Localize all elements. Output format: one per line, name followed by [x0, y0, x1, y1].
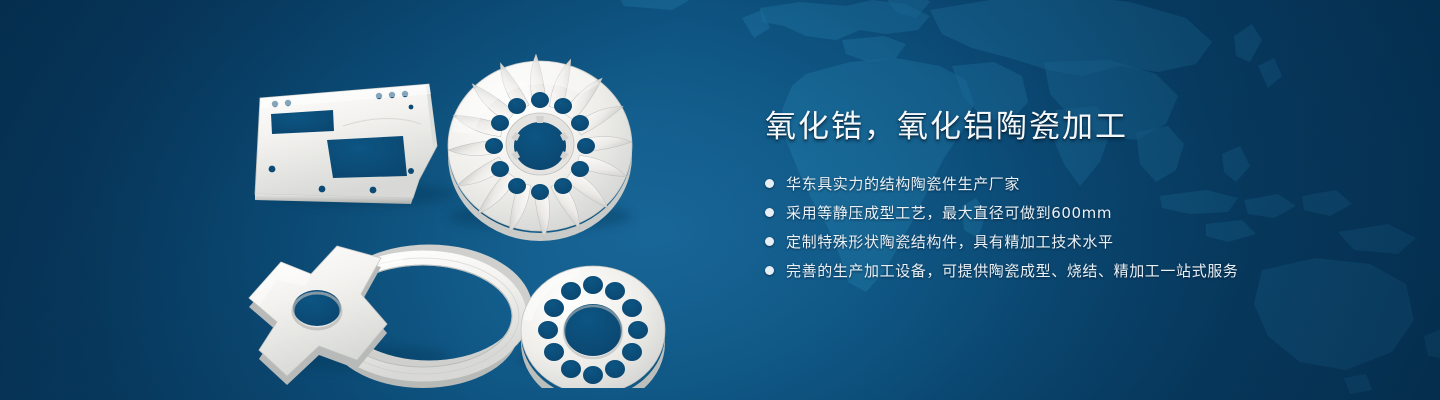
- bullet-dot-icon: [765, 266, 774, 275]
- feature-list: 华东具实力的结构陶瓷件生产厂家 采用等静压成型工艺，最大直径可做到600mm 定…: [765, 173, 1325, 282]
- feature-list-item: 定制特殊形状陶瓷结构件，具有精加工技术水平: [765, 231, 1325, 253]
- hero-banner: 氧化锆，氧化铝陶瓷加工 华东具实力的结构陶瓷件生产厂家 采用等静压成型工艺，最大…: [0, 0, 1440, 400]
- feature-list-item: 华东具实力的结构陶瓷件生产厂家: [765, 173, 1325, 195]
- banner-headline: 氧化锆，氧化铝陶瓷加工: [765, 108, 1325, 147]
- ceramic-plate-image: [255, 84, 437, 204]
- bullet-dot-icon: [765, 208, 774, 217]
- banner-copy: 氧化锆，氧化铝陶瓷加工 华东具实力的结构陶瓷件生产厂家 采用等静压成型工艺，最大…: [765, 108, 1325, 282]
- feature-text: 采用等静压成型工艺，最大直径可做到600mm: [786, 202, 1112, 224]
- feature-text: 完善的生产加工设备，可提供陶瓷成型、烧结、精加工一站式服务: [786, 260, 1238, 282]
- bullet-dot-icon: [765, 237, 774, 246]
- ceramic-perforated-disc-image: [521, 266, 665, 388]
- feature-list-item: 采用等静压成型工艺，最大直径可做到600mm: [765, 202, 1325, 224]
- ceramic-impeller-image: [448, 54, 632, 241]
- feature-text: 定制特殊形状陶瓷结构件，具有精加工技术水平: [786, 231, 1114, 253]
- feature-text: 华东具实力的结构陶瓷件生产厂家: [786, 173, 1020, 195]
- product-photo-group: [215, 28, 715, 388]
- feature-list-item: 完善的生产加工设备，可提供陶瓷成型、烧结、精加工一站式服务: [765, 260, 1325, 282]
- bullet-dot-icon: [765, 179, 774, 188]
